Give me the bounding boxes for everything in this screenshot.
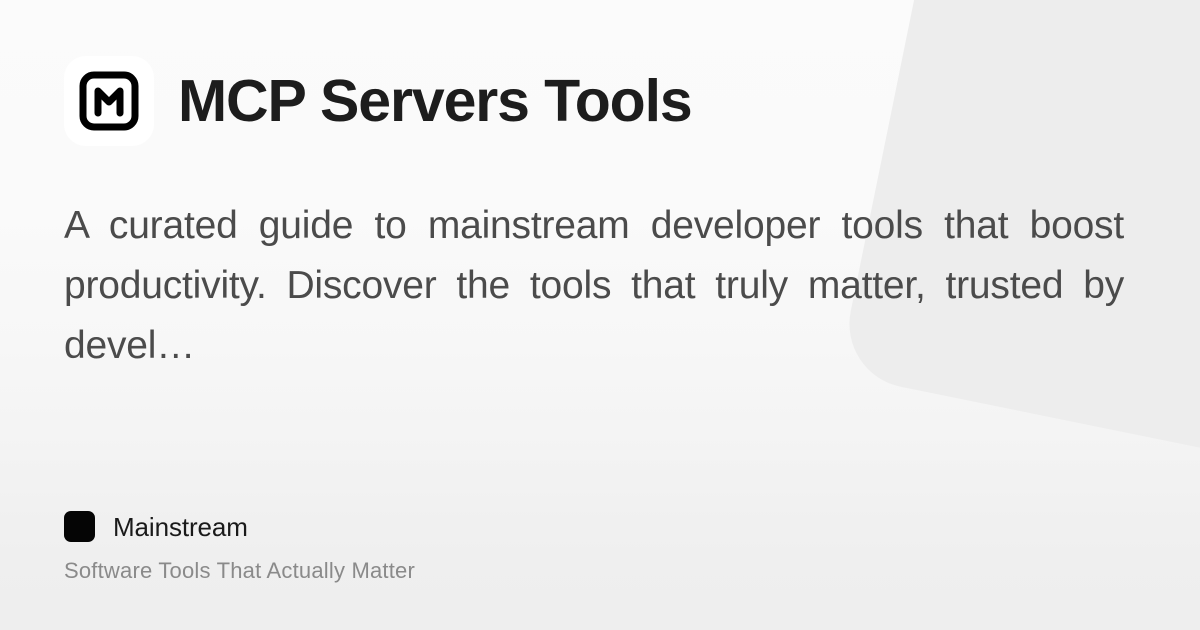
logo-tile	[64, 56, 154, 146]
page-title: MCP Servers Tools	[178, 72, 692, 131]
black-rounded-square-icon	[64, 511, 95, 542]
card-footer: Mainstream Software Tools That Actually …	[64, 511, 1136, 582]
brand-name: Mainstream	[113, 514, 248, 540]
card-description: A curated guide to mainstream developer …	[64, 196, 1124, 436]
card-header: MCP Servers Tools	[64, 56, 692, 146]
brand-row: Mainstream	[64, 511, 1136, 542]
brand-tagline: Software Tools That Actually Matter	[64, 560, 1136, 582]
card-content: MCP Servers Tools A curated guide to mai…	[64, 0, 1136, 630]
m-in-rounded-square-icon	[77, 69, 141, 133]
open-graph-card: MCP Servers Tools A curated guide to mai…	[0, 0, 1200, 630]
